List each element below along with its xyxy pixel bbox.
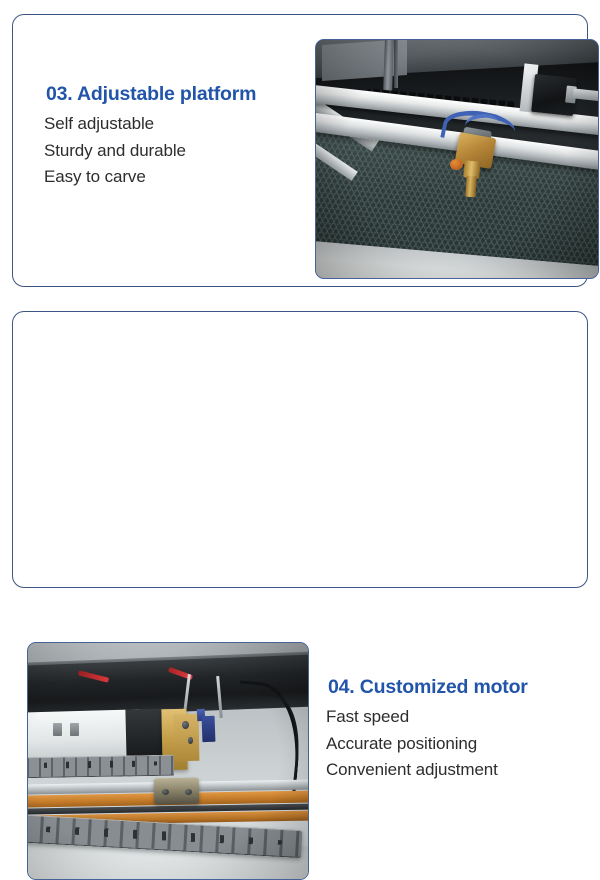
product-photo-adjustable-platform: [315, 39, 599, 279]
feature-text-block-03: 03. Adjustable platform Self adjustable …: [33, 81, 305, 191]
feature-item: Easy to carve: [44, 164, 305, 191]
photo-vignette: [316, 40, 598, 278]
photo-vignette: [28, 643, 308, 879]
feature-item: Accurate positioning: [326, 731, 595, 758]
feature-card-04: 04. Customized motor Fast speed Accurate…: [12, 311, 588, 588]
feature-title-04: 04. Customized motor: [328, 674, 595, 700]
feature-text-block-04: 04. Customized motor Fast speed Accurate…: [315, 674, 595, 784]
feature-list-03: Self adjustable Sturdy and durable Easy …: [44, 111, 305, 191]
product-feature-page: 03. Adjustable platform Self adjustable …: [0, 0, 600, 600]
feature-item: Fast speed: [326, 704, 595, 731]
feature-item: Convenient adjustment: [326, 757, 595, 784]
photo-scene: [28, 643, 308, 879]
photo-scene: [316, 40, 598, 278]
product-photo-customized-motor: [27, 642, 309, 880]
feature-item: Self adjustable: [44, 111, 305, 138]
feature-title-03: 03. Adjustable platform: [46, 81, 305, 107]
feature-card-03: 03. Adjustable platform Self adjustable …: [12, 14, 588, 287]
feature-list-04: Fast speed Accurate positioning Convenie…: [326, 704, 595, 784]
feature-item: Sturdy and durable: [44, 138, 305, 165]
